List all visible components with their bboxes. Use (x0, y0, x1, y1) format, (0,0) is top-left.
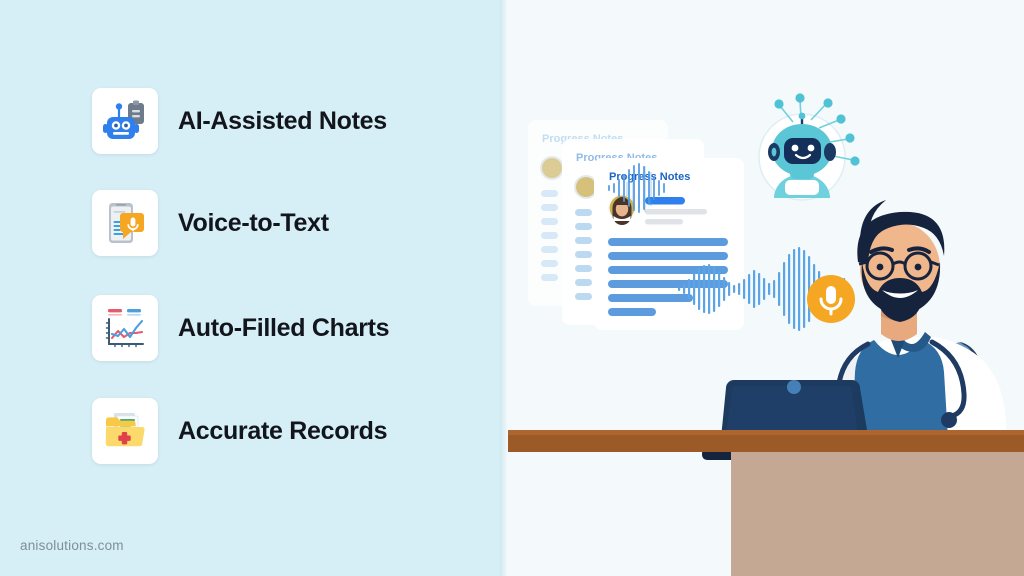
feature-item-voice-to-text[interactable]: Voice-to-Text (92, 190, 329, 256)
ai-robot-mascot (759, 93, 860, 200)
line-chart-icon (92, 295, 158, 361)
illustration-panel: Progress Notes Progress Notes (508, 0, 1024, 576)
phone-microphone-icon (92, 190, 158, 256)
feature-label: AI-Assisted Notes (178, 107, 387, 136)
medical-folder-icon (92, 398, 158, 464)
feature-label: Voice-to-Text (178, 209, 329, 238)
feature-label: Auto-Filled Charts (178, 314, 389, 343)
feature-item-accurate-records[interactable]: Accurate Records (92, 398, 387, 464)
slide-canvas: AI-Assisted Notes (0, 0, 1024, 576)
progress-notes-card-front: Progress Notes (594, 158, 744, 330)
desk-illustration (508, 430, 1024, 576)
feature-item-auto-filled-charts[interactable]: Auto-Filled Charts (92, 295, 389, 361)
watermark: anisolutions.com (20, 538, 124, 553)
microphone-badge (807, 275, 855, 323)
feature-item-ai-assisted-notes[interactable]: AI-Assisted Notes (92, 88, 387, 154)
panel-divider (500, 0, 508, 576)
robot-clipboard-icon (92, 88, 158, 154)
feature-label: Accurate Records (178, 417, 387, 446)
left-panel: AI-Assisted Notes (0, 0, 500, 576)
